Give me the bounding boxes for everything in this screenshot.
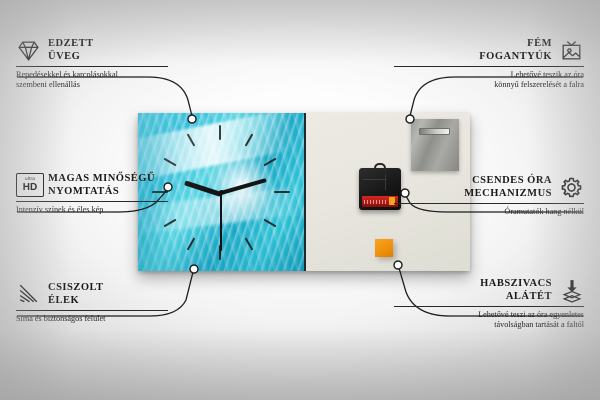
callout-title: EDZETT ÜVEG [48,38,94,63]
ultra-hd-icon: ultra HD [16,173,41,198]
callout-description: Lehetővé teszi az óra egyenletes távolsá… [394,310,584,330]
callout-polished-edges: CSISZOLT ÉLEK Sima és biztonságos felüle… [16,282,206,324]
callout-description: Lehetővé teszik az óra könnyű felszerelé… [394,70,584,90]
callout-divider [16,66,168,67]
battery-part [362,196,398,207]
callout-metal-handles: FÉM FOGANTYÚK Lehetővé teszik az óra kön… [394,38,584,90]
callout-header: ultra HD MAGAS MINŐSÉGŰ NYOMTATÁS [16,173,206,198]
mechanism-seam [363,179,387,180]
diamond-icon [16,38,41,63]
callout-divider [394,66,584,67]
callout-title: CSENDES ÓRA MECHANIZMUS [464,175,552,200]
hanger-slot [419,128,450,135]
callout-description: Repedésekkel és karcolásokkal szembeni e… [16,70,206,90]
callout-title: HABSZIVACS ALÁTÉT [480,278,552,303]
callout-tempered-glass: EDZETT ÜVEG Repedésekkel és karcolásokka… [16,38,206,90]
callout-title: CSISZOLT ÉLEK [48,282,104,307]
callout-header: CSISZOLT ÉLEK [16,282,206,307]
callout-divider [394,203,584,204]
callout-high-quality-print: ultra HD MAGAS MINŐSÉGŰ NYOMTATÁS Intenz… [16,173,206,215]
callout-description: Óramutatók hang nélkül [394,207,584,217]
callout-divider [16,201,168,202]
mechanism-seam-vertical [385,174,386,190]
callout-divider [16,310,168,311]
callout-header: FÉM FOGANTYÚK [394,38,584,63]
polished-edges-icon [16,282,41,307]
callout-header: EDZETT ÜVEG [16,38,206,63]
picture-hanger-icon [559,38,584,63]
metal-hanger-part [411,119,459,171]
callout-divider [394,306,584,307]
callout-foam-pad: HABSZIVACS ALÁTÉT Lehetővé teszi az óra … [394,278,584,330]
callout-header: HABSZIVACS ALÁTÉT [394,278,584,303]
callout-title: MAGAS MINŐSÉGŰ NYOMTATÁS [48,173,155,198]
foam-pad-part [375,239,393,257]
battery-label [364,200,388,204]
callout-description: Sima és biztonságos felület [16,314,206,324]
gear-icon [559,175,584,200]
callout-header: CSENDES ÓRA MECHANIZMUS [394,175,584,200]
foam-pad-icon [559,278,584,303]
mechanism-shaft [374,163,386,171]
callout-description: Intenzív színek és éles kép [16,205,206,215]
callout-title: FÉM FOGANTYÚK [479,38,552,63]
infographic-canvas: EDZETT ÜVEG Repedésekkel és karcolásokka… [0,0,600,400]
callout-silent-mechanism: CSENDES ÓRA MECHANIZMUS Óramutatók hang … [394,175,584,217]
